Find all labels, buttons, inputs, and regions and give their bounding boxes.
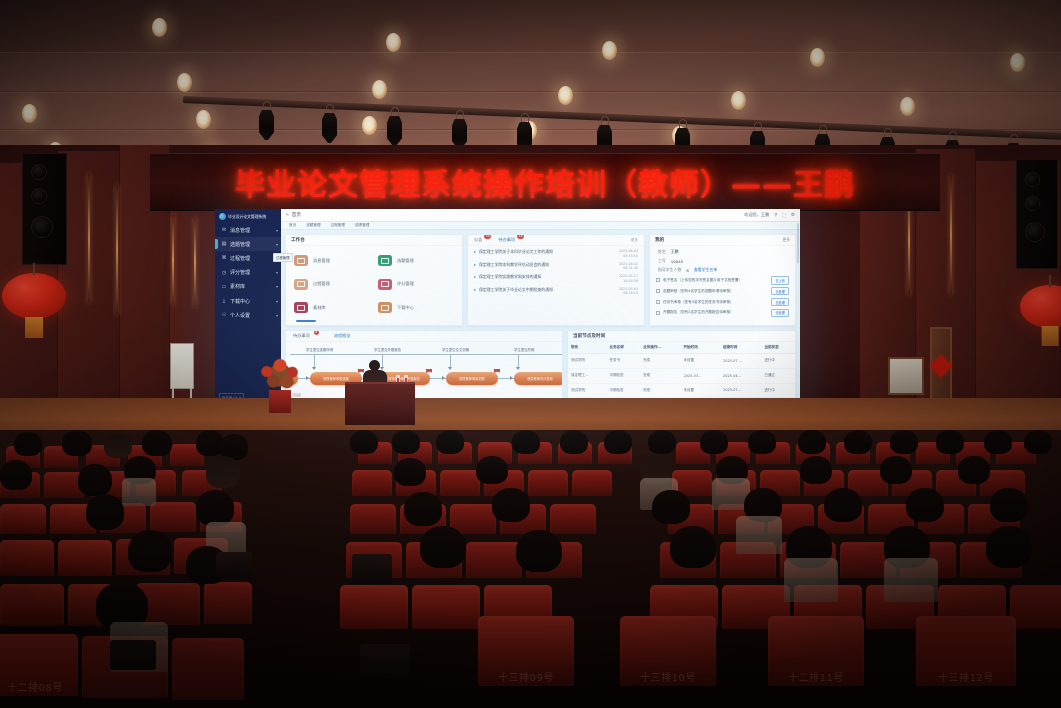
schedule-table: 院系 业务名称 业务操作... 开始时间 结束时间 当前状态 <box>568 342 795 398</box>
process-icon: ⌘ <box>221 255 227 261</box>
flow-step-label: 学生提交终稿 <box>514 347 534 352</box>
collapse-icon[interactable]: « <box>286 212 289 218</box>
tile-label: 素材库 <box>313 305 326 311</box>
task-row: 任务书审核（您有3名学生的任务书待审核） 去处理 <box>656 298 789 306</box>
tab-label: 流程概览 <box>334 333 351 338</box>
flow-arrow <box>306 376 309 380</box>
wall-light-strip <box>172 215 174 305</box>
field-value: 10045 <box>671 259 683 264</box>
user-greeting[interactable]: 欢迎您，王鹏 <box>744 212 769 218</box>
ceiling-downlight <box>731 91 746 110</box>
flow-arrow <box>448 367 452 370</box>
seat-with-label: 十三排10号 <box>620 616 716 686</box>
task-checkbox[interactable] <box>656 289 660 293</box>
audience-member <box>196 490 234 526</box>
audience-member <box>958 456 990 484</box>
audience-member <box>986 526 1032 568</box>
seat <box>528 470 568 496</box>
seat <box>466 542 522 578</box>
cell: 未设置 <box>680 354 720 369</box>
list-item[interactable]: ▸ 保定理工学院本科教学评估动员会的通知 2025-06-02 08:51:40 <box>474 262 638 271</box>
field-key: 姓名 <box>658 249 666 255</box>
cell: 测试学院 <box>568 383 607 398</box>
ceiling-downlight <box>362 116 377 135</box>
stage-light <box>387 116 402 146</box>
flow-arrow <box>442 376 445 380</box>
library-icon: ▭ <box>221 284 227 290</box>
ceiling-downlight <box>372 80 387 99</box>
breadcrumb-home[interactable]: 首页 <box>292 212 301 218</box>
status-badge: 12 <box>484 234 491 239</box>
sidebar-item-label: 个人设置 <box>230 312 250 319</box>
banner-text: 毕业论文管理系统操作培训（教师）——王鹏 <box>235 160 855 204</box>
bell-icon[interactable]: ⚲ <box>774 212 777 218</box>
flow-arrow <box>510 376 513 380</box>
task-text: 选题审核（您有4名学生的选题申请待审核） <box>663 289 768 294</box>
audience-member <box>62 430 92 456</box>
seat <box>352 470 392 496</box>
flowers <box>258 358 302 392</box>
library-icon <box>294 302 308 313</box>
dashboard-row-top: 工作台 消息管理 选题管理 <box>285 234 796 326</box>
table-row[interactable]: 测试学院 任务书 完成 未设置 2025-07 ... 进行中 <box>568 354 795 369</box>
flow-step-label: 学生提交选题申请 <box>306 347 333 352</box>
profile-field-name: 姓名 王鹏 <box>658 249 787 255</box>
sidebar-item-messages[interactable]: ✉ 消息管理 ▾ <box>215 223 281 237</box>
workbench-tile-messages[interactable]: 消息管理 <box>294 249 370 272</box>
door-decoration <box>930 355 953 378</box>
status-badge: 18 <box>517 234 524 239</box>
list-item[interactable]: ▸ 保定理工学院实践教学周安排的通知 2025-05-17 10:04:26 <box>474 274 638 283</box>
flow-connector <box>290 354 562 355</box>
task-text: 开题报告（您有2名学生的开题报告待审核） <box>663 310 768 315</box>
profile-more-link[interactable]: 更多 <box>782 237 790 243</box>
task-action-button[interactable]: 去处理 <box>771 298 789 306</box>
audience-member <box>906 488 944 522</box>
seat <box>550 504 596 534</box>
tab-home[interactable]: 首页 <box>286 223 299 228</box>
topbar-right: 欢迎您，王鹏 ⚲ ⛶ ⚙ <box>744 212 795 218</box>
sidebar-item-topics[interactable]: ▤ 选题管理 ▾ <box>215 237 281 251</box>
notice-date-time: 08:46:18 <box>619 291 638 296</box>
profile-fields: 姓名 王鹏 工号 10045 指导学生人数 8 <box>650 246 795 273</box>
ceiling-band <box>0 52 1061 92</box>
seat <box>172 638 244 700</box>
list-item[interactable]: ▸ 保定理工学院关于毕业论文中期检查的通知 2025-05-03 08:46:1… <box>474 287 638 296</box>
audience-member <box>104 434 132 458</box>
audience-member <box>748 430 776 454</box>
tab-todo[interactable]: 待办事项 18 <box>498 237 515 243</box>
app-main: « 首页 欢迎您，王鹏 ⚲ ⛶ ⚙ 首页 选题管理 过程管理 成绩管理 <box>281 209 800 405</box>
tile-label: 消息管理 <box>313 258 330 264</box>
notice-list: ▸ 保定理工学院关于本科毕业论文工作的通知 2025-06-03 09:45:1… <box>468 246 644 325</box>
task-checkbox[interactable] <box>656 278 660 282</box>
notice-date-day: 2025-06-03 <box>619 249 638 254</box>
flow-node[interactable]: 指导教师评分答辩 <box>514 372 562 385</box>
tile-label: 下载中心 <box>397 305 414 311</box>
wall-light-strip <box>116 185 118 315</box>
seat <box>350 504 396 534</box>
seat-label: 十三排09号 <box>498 669 554 684</box>
flag-icon <box>426 369 432 374</box>
card-header: 我的 更多 <box>650 235 795 246</box>
app-brand: 毕业设计论文管理系统 <box>215 211 281 223</box>
cell: 2025-03... <box>680 368 720 383</box>
audience-member <box>436 430 464 454</box>
red-lantern-left <box>2 273 66 337</box>
tile-label: 评分管理 <box>397 281 414 287</box>
notice-card: 公告 12 待办事项 18 更多 <box>467 234 645 326</box>
card-header: 当前节点及时间 <box>568 331 795 342</box>
flow-connector-v <box>314 354 315 368</box>
wall-light-strip <box>88 173 90 303</box>
profile-title: 我的 <box>655 237 664 243</box>
tab-strip: 首页 选题管理 过程管理 成绩管理 <box>281 222 800 230</box>
flow-node[interactable]: 指导教师审阅初稿 <box>446 372 498 385</box>
node-label: 指导教师审核选题 <box>321 377 351 381</box>
audience-member <box>824 488 862 522</box>
list-item[interactable]: ▸ 保定理工学院关于本科毕业论文工作的通知 2025-06-03 09:45:1… <box>474 249 638 258</box>
flow-canvas: 学生提交选题申请 学生提交开题报告 学生提交论文初稿 学生提交终稿 开始 指导教… <box>286 342 562 400</box>
task-action-button[interactable]: 去上传 <box>771 276 789 284</box>
workbench-tile-download[interactable]: 下载中心 <box>378 296 454 319</box>
task-checkbox[interactable] <box>656 311 660 315</box>
sidebar-item-library[interactable]: ▭ 素材库 ▾ <box>215 280 281 294</box>
field-value: 王鹏 <box>671 249 679 255</box>
bullet-icon: ▸ <box>474 262 476 268</box>
seat <box>150 502 196 532</box>
profile-tasks: 电子签名（上传您的手写签名图片用于文档签署） 去上传 选题审核（您有4名学生的选… <box>650 273 795 317</box>
flow-step-label: 学生提交论文初稿 <box>442 347 469 352</box>
flow-connector-v <box>518 354 519 368</box>
topbar-left: « 首页 <box>286 212 301 218</box>
audience-member <box>78 464 112 496</box>
bag-on-floor <box>352 554 392 584</box>
workbench-tile-score[interactable]: 评分管理 <box>378 272 454 295</box>
tab-label: 公告 <box>474 237 482 242</box>
seat-with-label: 十三排12号 <box>916 616 1016 686</box>
task-row: 电子签名（上传您的手写签名图片用于文档签署） 去上传 <box>656 276 789 284</box>
ceiling-downlight <box>386 33 401 52</box>
auditorium-seating: 十二排08号 <box>0 430 1061 708</box>
topic-icon: ▤ <box>221 241 227 247</box>
score-icon <box>378 279 392 290</box>
audience-member <box>652 490 690 524</box>
sidebar-item-label: 消息管理 <box>230 227 250 234</box>
flow-card: 待办事项 6 流程概览 <box>285 330 563 401</box>
cell: 中期检查 <box>607 368 641 383</box>
column-header[interactable]: 业务名称 <box>607 342 641 354</box>
flow-tabs: 待办事项 6 流程概览 <box>286 331 562 342</box>
seat <box>0 504 46 534</box>
seat-label: 十二排08号 <box>7 679 63 694</box>
seat <box>0 584 64 626</box>
audience-member <box>14 432 42 456</box>
cell: 中期检查 <box>607 383 641 398</box>
notice-date: 2025-06-03 09:45:10 <box>619 249 638 258</box>
ceiling-downlight <box>22 104 37 123</box>
audience-member <box>492 488 530 522</box>
seat <box>0 540 54 576</box>
cell: 完成 <box>640 383 680 398</box>
thesis-management-app: 毕业设计论文管理系统 ✉ 消息管理 ▾ ▤ 选题管理 ▾ ⌘ 过程管理 ▾ <box>215 209 800 405</box>
audience-member <box>392 430 420 454</box>
flower-arrangement <box>258 358 302 413</box>
column-header[interactable]: 业务操作... <box>640 342 680 354</box>
cell: 进行中 <box>761 383 795 398</box>
profile-field-id: 工号 10045 <box>658 258 787 264</box>
notice-more-link[interactable]: 更多 <box>631 238 638 243</box>
stage-light <box>322 113 337 143</box>
node-label: 指导教师审阅初稿 <box>457 377 487 381</box>
tile-label: 过程管理 <box>313 281 330 287</box>
tab-topics[interactable]: 选题管理 <box>303 223 323 228</box>
notice-text: 保定理工学院本科教学评估动员会的通知 <box>479 262 549 268</box>
audience-member <box>476 456 508 484</box>
audience-member <box>800 456 832 484</box>
notice-tabs: 公告 12 待办事项 18 更多 <box>468 235 644 246</box>
audience-member <box>128 530 172 572</box>
tab-announcements[interactable]: 公告 12 <box>474 237 482 243</box>
tab-process[interactable]: 过程管理 <box>328 223 348 228</box>
flow-arrow <box>312 367 316 370</box>
sidebar-item-download[interactable]: ⤓ 下载中心 ▾ <box>215 294 281 308</box>
cell: 测试学院 <box>568 354 607 369</box>
workbench-title: 工作台 <box>291 237 305 243</box>
chevron-down-icon: ▾ <box>276 284 278 289</box>
cell: 2025-07... <box>720 383 761 398</box>
audience-member <box>798 430 826 454</box>
settings-icon[interactable]: ⚙ <box>791 212 795 218</box>
sidebar-item-label: 选题管理 <box>230 241 250 248</box>
cell: 保定理工... <box>568 368 607 383</box>
sidebar-tooltip: 过程管理 <box>273 253 293 262</box>
table-header-row: 院系 业务名称 业务操作... 开始时间 结束时间 当前状态 <box>568 342 795 354</box>
task-action-button[interactable]: 去处理 <box>771 287 789 295</box>
audience-clothing <box>784 558 838 602</box>
field-value: 8 <box>686 268 688 273</box>
column-header[interactable]: 开始时间 <box>680 342 720 354</box>
flow-step-label: 学生提交开题报告 <box>374 347 401 352</box>
flag-icon <box>494 369 500 374</box>
sidebar-item-settings[interactable]: ☉ 个人设置 ▾ <box>215 308 281 322</box>
audience-member <box>604 430 632 454</box>
bullet-icon: ▸ <box>474 249 476 255</box>
seat-with-label: 十三排09号 <box>478 616 574 686</box>
notice-date-time: 08:51:40 <box>619 266 638 271</box>
sidebar-item-process[interactable]: ⌘ 过程管理 ▾ <box>215 251 281 265</box>
chevron-down-icon: ▾ <box>276 242 278 247</box>
audience-clothing <box>122 478 156 506</box>
ceiling-downlight <box>810 48 825 67</box>
audience-member <box>206 456 240 488</box>
notice-date-time: 10:04:26 <box>619 279 638 284</box>
audience-member <box>648 430 676 454</box>
schedule-card: 当前节点及时间 院系 业务名称 业务操作... 开始时间 结束时间 <box>567 330 796 401</box>
ceiling-downlight <box>196 110 211 129</box>
audience-member <box>990 488 1028 522</box>
seat <box>204 582 252 624</box>
audience-member <box>350 430 378 454</box>
process-icon <box>294 279 308 290</box>
seat <box>572 470 612 496</box>
score-icon: ◷ <box>221 270 227 276</box>
audience-member <box>890 430 918 454</box>
sidebar-item-score[interactable]: ◷ 评分管理 ▾ <box>215 266 281 280</box>
notice-text: 保定理工学院关于毕业论文中期检查的通知 <box>479 287 553 293</box>
seat <box>440 470 480 496</box>
notice-date: 2025-05-17 10:04:26 <box>619 274 638 283</box>
wall-light-strip <box>194 217 196 307</box>
speaker-array-right <box>1016 159 1058 269</box>
audience-member <box>560 430 588 454</box>
seat-with-label: 十二排08号 <box>0 634 78 696</box>
audience-member <box>420 526 466 568</box>
workbench-grid: 消息管理 选题管理 过程管理 <box>286 246 462 319</box>
cell: 2025-07 ... <box>720 354 761 369</box>
workbench-indicator <box>296 320 316 322</box>
workbench-tile-process[interactable]: 过程管理 <box>294 272 370 295</box>
task-row: 选题审核（您有4名学生的选题申请待审核） 去处理 <box>656 287 789 295</box>
bullet-icon: ▸ <box>474 274 476 280</box>
status-badge: 6 <box>314 330 319 335</box>
column-header[interactable]: 结束时间 <box>720 342 761 354</box>
brand-title: 毕业设计论文管理系统 <box>228 214 266 220</box>
bag-on-floor <box>216 552 252 578</box>
card-header: 工作台 <box>286 235 462 246</box>
seat <box>58 540 112 576</box>
workbench-card: 工作台 消息管理 选题管理 <box>285 234 463 326</box>
led-banner: 毕业论文管理系统操作培训（教师）——王鹏 <box>150 153 940 211</box>
download-icon <box>378 302 392 313</box>
ceiling <box>0 0 1061 152</box>
bullet-icon: ▸ <box>474 287 476 293</box>
flower-pot-base <box>269 390 291 413</box>
cell: 进行中 <box>761 354 795 369</box>
task-row: 开题报告（您有2名学生的开题报告待审核） 去处理 <box>656 309 789 317</box>
tab-flow-todo[interactable]: 待办事项 6 <box>293 333 310 339</box>
sidebar-item-label: 评分管理 <box>230 269 250 276</box>
whiteboard-easel <box>170 343 194 389</box>
ceiling-downlight <box>602 41 617 60</box>
notice-date: 2025-05-03 08:46:18 <box>619 287 638 296</box>
column-header[interactable]: 院系 <box>568 342 607 354</box>
seat <box>340 585 408 629</box>
task-text: 任务书审核（您有3名学生的任务书待审核） <box>663 300 768 305</box>
wall-light-strip <box>950 175 952 295</box>
seat <box>412 585 480 629</box>
audience-member <box>516 530 562 572</box>
cell: 完成 <box>640 368 680 383</box>
sidebar-item-label: 素材库 <box>230 283 245 290</box>
flow-arrow <box>516 367 520 370</box>
cell: 已通过 <box>761 368 795 383</box>
ceiling-downlight <box>177 73 192 92</box>
ceiling-downlight <box>152 18 167 37</box>
tab-scores[interactable]: 成绩管理 <box>352 223 372 228</box>
schedule-title: 当前节点及时间 <box>573 333 605 339</box>
profile-card: 我的 更多 姓名 王鹏 工号 10045 <box>649 234 796 326</box>
audience-member <box>844 430 872 454</box>
audience-member <box>394 458 426 486</box>
audience-clothing <box>884 558 938 602</box>
message-icon <box>294 255 308 266</box>
chevron-down-icon: ▾ <box>276 313 278 318</box>
task-checkbox[interactable] <box>656 300 660 304</box>
seat-label: 十二排11号 <box>788 669 844 684</box>
chevron-down-icon: ▾ <box>276 270 278 275</box>
flow-connector-v <box>450 354 451 368</box>
projection-screen: 毕业设计论文管理系统 ✉ 消息管理 ▾ ▤ 选题管理 ▾ ⌘ 过程管理 ▾ <box>215 209 800 405</box>
node-label: 指导教师评分答辩 <box>525 377 555 381</box>
audience-clothing <box>736 516 782 554</box>
bag-on-floor <box>110 640 156 670</box>
seat-label: 十三排10号 <box>640 669 696 684</box>
sidebar-item-label: 下载中心 <box>230 298 250 305</box>
audience-member <box>86 494 124 530</box>
notice-text: 保定理工学院实践教学周安排的通知 <box>479 274 541 280</box>
audience-member <box>984 430 1012 454</box>
user-icon: ☉ <box>221 312 227 318</box>
cell: 未设置 <box>680 383 720 398</box>
seat-label: 十三排12号 <box>938 669 994 684</box>
sidebar-item-label: 过程管理 <box>230 255 250 262</box>
workbench-tile-topics[interactable]: 选题管理 <box>378 249 454 272</box>
task-action-button[interactable]: 去处理 <box>771 309 789 317</box>
workbench-tile-library[interactable]: 素材库 <box>294 296 370 319</box>
field-key: 工号 <box>658 258 666 264</box>
task-text: 电子签名（上传您的手写签名图片用于文档签署） <box>663 278 768 283</box>
app-topbar: « 首页 欢迎您，王鹏 ⚲ ⛶ ⚙ <box>281 209 800 222</box>
topic-icon <box>378 255 392 266</box>
ceiling-downlight <box>900 97 915 116</box>
bag-on-floor <box>360 644 410 678</box>
audience-member <box>404 492 442 526</box>
fullscreen-icon[interactable]: ⛶ <box>783 213 786 218</box>
auditorium-training-photo: 毕业论文管理系统操作培训（教师）——王鹏 <box>0 0 1061 708</box>
message-icon: ✉ <box>221 227 227 233</box>
ceiling-downlight <box>1010 53 1025 72</box>
audience-member <box>670 526 716 568</box>
tab-label: 待办事项 <box>498 237 515 242</box>
notice-date-time: 09:45:10 <box>619 254 638 259</box>
table-row[interactable]: 测试学院 中期检查 完成 未设置 2025-07... 进行中 <box>568 383 795 398</box>
audience-member <box>0 460 32 490</box>
audience-member <box>700 430 728 454</box>
cell: 2025-04... <box>720 368 761 383</box>
audience-member <box>880 456 912 484</box>
table-row[interactable]: 保定理工... 中期检查 完成 2025-03... 2025-04... 已通… <box>568 368 795 383</box>
audience-member <box>142 430 172 456</box>
cell: 任务书 <box>607 354 641 369</box>
tab-label: 待办事项 <box>293 333 310 338</box>
download-icon: ⤓ <box>221 298 227 304</box>
tab-flow-overview[interactable]: 流程概览 <box>334 333 351 339</box>
seat-with-label: 十二排11号 <box>768 616 864 686</box>
presenter-table <box>345 382 415 425</box>
column-header[interactable]: 当前状态 <box>761 342 795 354</box>
chevron-down-icon: ▾ <box>276 299 278 304</box>
ceiling-downlight <box>558 86 573 105</box>
chevron-down-icon: ▾ <box>276 228 278 233</box>
cell: 完成 <box>640 354 680 369</box>
notice-text: 保定理工学院关于本科毕业论文工作的通知 <box>479 249 553 255</box>
brand-logo-icon <box>219 213 226 220</box>
stage-light <box>259 110 274 140</box>
notice-date: 2025-06-02 08:51:40 <box>619 262 638 271</box>
wall-notice-board <box>888 357 924 395</box>
tile-label: 选题管理 <box>397 258 414 264</box>
